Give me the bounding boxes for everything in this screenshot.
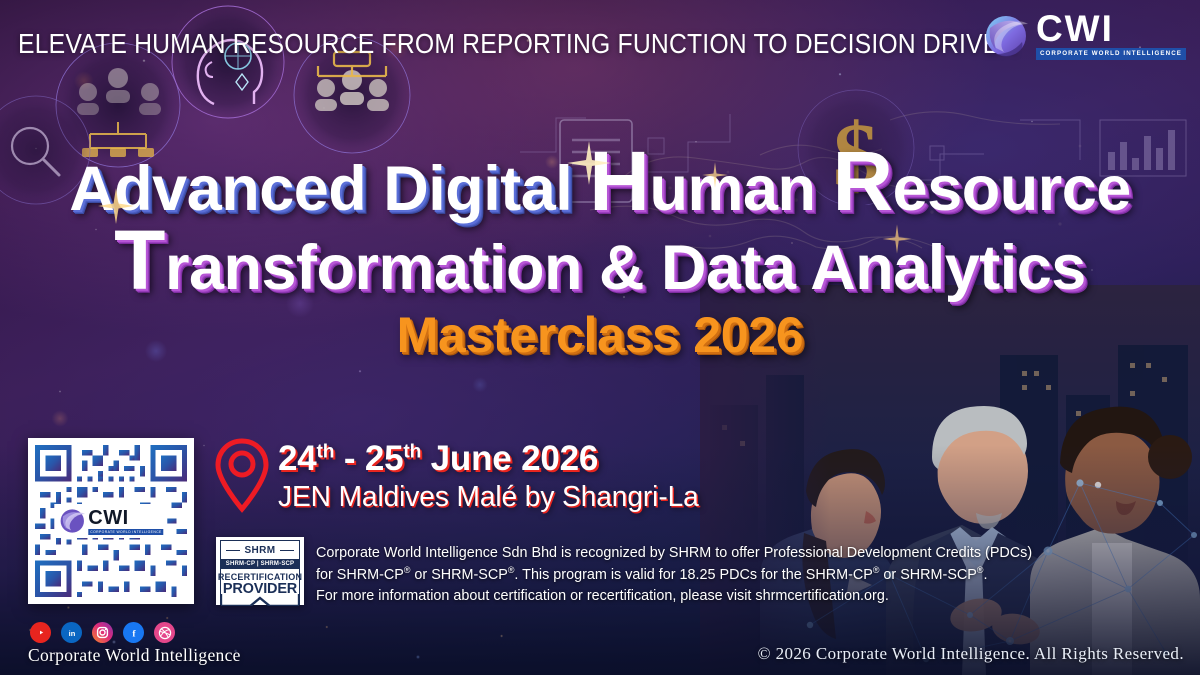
disclaimer-l2-b: or SHRM-SCP bbox=[410, 567, 507, 583]
title-dropcap-r: R bbox=[833, 134, 893, 228]
title-dropcap-t: T bbox=[114, 213, 165, 307]
cwi-logo[interactable]: CWI CORPORATE WORLD INTELLIGENCE bbox=[982, 12, 1186, 60]
footer-brand: Corporate World Intelligence bbox=[28, 645, 241, 666]
qr-center-logo: CWI CORPORATE WORLD INTELLIGENCE bbox=[54, 504, 167, 538]
location-pin-icon bbox=[214, 437, 270, 513]
event-date-venue: 24th - 25th June 2026 JEN Maldives Malé … bbox=[278, 440, 712, 514]
date-day-start: 24 bbox=[278, 439, 317, 478]
title-part-transformation-data-analytics: ransformation & Data Analytics bbox=[165, 233, 1086, 303]
title-dropcap-h: H bbox=[589, 134, 649, 228]
youtube-icon[interactable] bbox=[30, 622, 51, 643]
svg-text:f: f bbox=[132, 629, 136, 639]
disclaimer-l2-a: for SHRM-CP bbox=[316, 567, 404, 583]
ai-brain-head-icon bbox=[172, 6, 284, 118]
badge-shield-notch bbox=[221, 594, 299, 606]
social-links: in f bbox=[30, 622, 175, 643]
date-month-year: June 2026 bbox=[421, 439, 598, 478]
instagram-icon[interactable] bbox=[92, 622, 113, 643]
badge-rule-left bbox=[226, 550, 240, 552]
shrm-badge-certs: SHRM-CP | SHRM-SCP bbox=[221, 559, 300, 569]
main-title-block: Advanced Digital Human Resource Transfor… bbox=[0, 148, 1200, 360]
disclaimer-line-3: For more information about certification… bbox=[316, 586, 1074, 607]
dribbble-icon[interactable] bbox=[154, 622, 175, 643]
title-part-esource: esource bbox=[893, 154, 1131, 224]
shrm-disclaimer-text: Corporate World Intelligence Sdn Bhd is … bbox=[316, 543, 1074, 608]
event-date: 24th - 25th June 2026 bbox=[278, 440, 712, 478]
logo-wordmark: CWI bbox=[1036, 12, 1186, 46]
header-tagline: ELEVATE HUMAN RESOURCE FROM REPORTING FU… bbox=[18, 28, 1018, 60]
title-line-2: Transformation & Data Analytics bbox=[0, 227, 1200, 300]
svg-text:in: in bbox=[68, 629, 75, 638]
linkedin-icon[interactable]: in bbox=[61, 622, 82, 643]
date-day-end: 25 bbox=[365, 439, 404, 478]
event-venue: JEN Maldives Malé by Shangri-La bbox=[278, 481, 699, 514]
disclaimer-l2-e: . bbox=[983, 567, 987, 583]
disclaimer-l2-c: . This program is valid for 18.25 PDCs f… bbox=[514, 567, 872, 583]
disclaimer-line-1: Corporate World Intelligence Sdn Bhd is … bbox=[316, 543, 1074, 564]
logo-subtitle-bar: CORPORATE WORLD INTELLIGENCE bbox=[1036, 48, 1186, 60]
date-ordinal-1: th bbox=[317, 441, 335, 462]
qr-logo-wordmark: CWI bbox=[88, 508, 163, 528]
shrm-recertification-provider-badge: SHRM SHRM-CP | SHRM-SCP RECERTIFICATION … bbox=[216, 537, 304, 605]
qr-logo-subtitle: CORPORATE WORLD INTELLIGENCE bbox=[88, 529, 163, 535]
title-line-1: Advanced Digital Human Resource bbox=[0, 148, 1200, 221]
footer-copyright: © 2026 Corporate World Intelligence. All… bbox=[758, 644, 1184, 664]
facebook-icon[interactable]: f bbox=[123, 622, 144, 643]
shrm-badge-name: SHRM bbox=[244, 545, 275, 556]
badge-rule-right bbox=[280, 550, 294, 552]
title-line-3-masterclass: Masterclass 2026 bbox=[0, 310, 1200, 360]
date-ordinal-2: th bbox=[403, 441, 421, 462]
qr-code-graphic: CWI CORPORATE WORLD INTELLIGENCE bbox=[35, 445, 187, 597]
disclaimer-l2-d: or SHRM-SCP bbox=[879, 567, 976, 583]
globe-swirl-icon bbox=[58, 507, 86, 535]
disclaimer-line-2: for SHRM-CP® or SHRM-SCP®. This program … bbox=[316, 564, 1074, 586]
title-part-uman: uman bbox=[649, 154, 832, 224]
date-separator: - bbox=[334, 439, 365, 478]
qr-code-card[interactable]: CWI CORPORATE WORLD INTELLIGENCE bbox=[28, 438, 194, 604]
globe-swirl-icon bbox=[982, 12, 1030, 60]
event-poster: $ bbox=[0, 0, 1200, 675]
